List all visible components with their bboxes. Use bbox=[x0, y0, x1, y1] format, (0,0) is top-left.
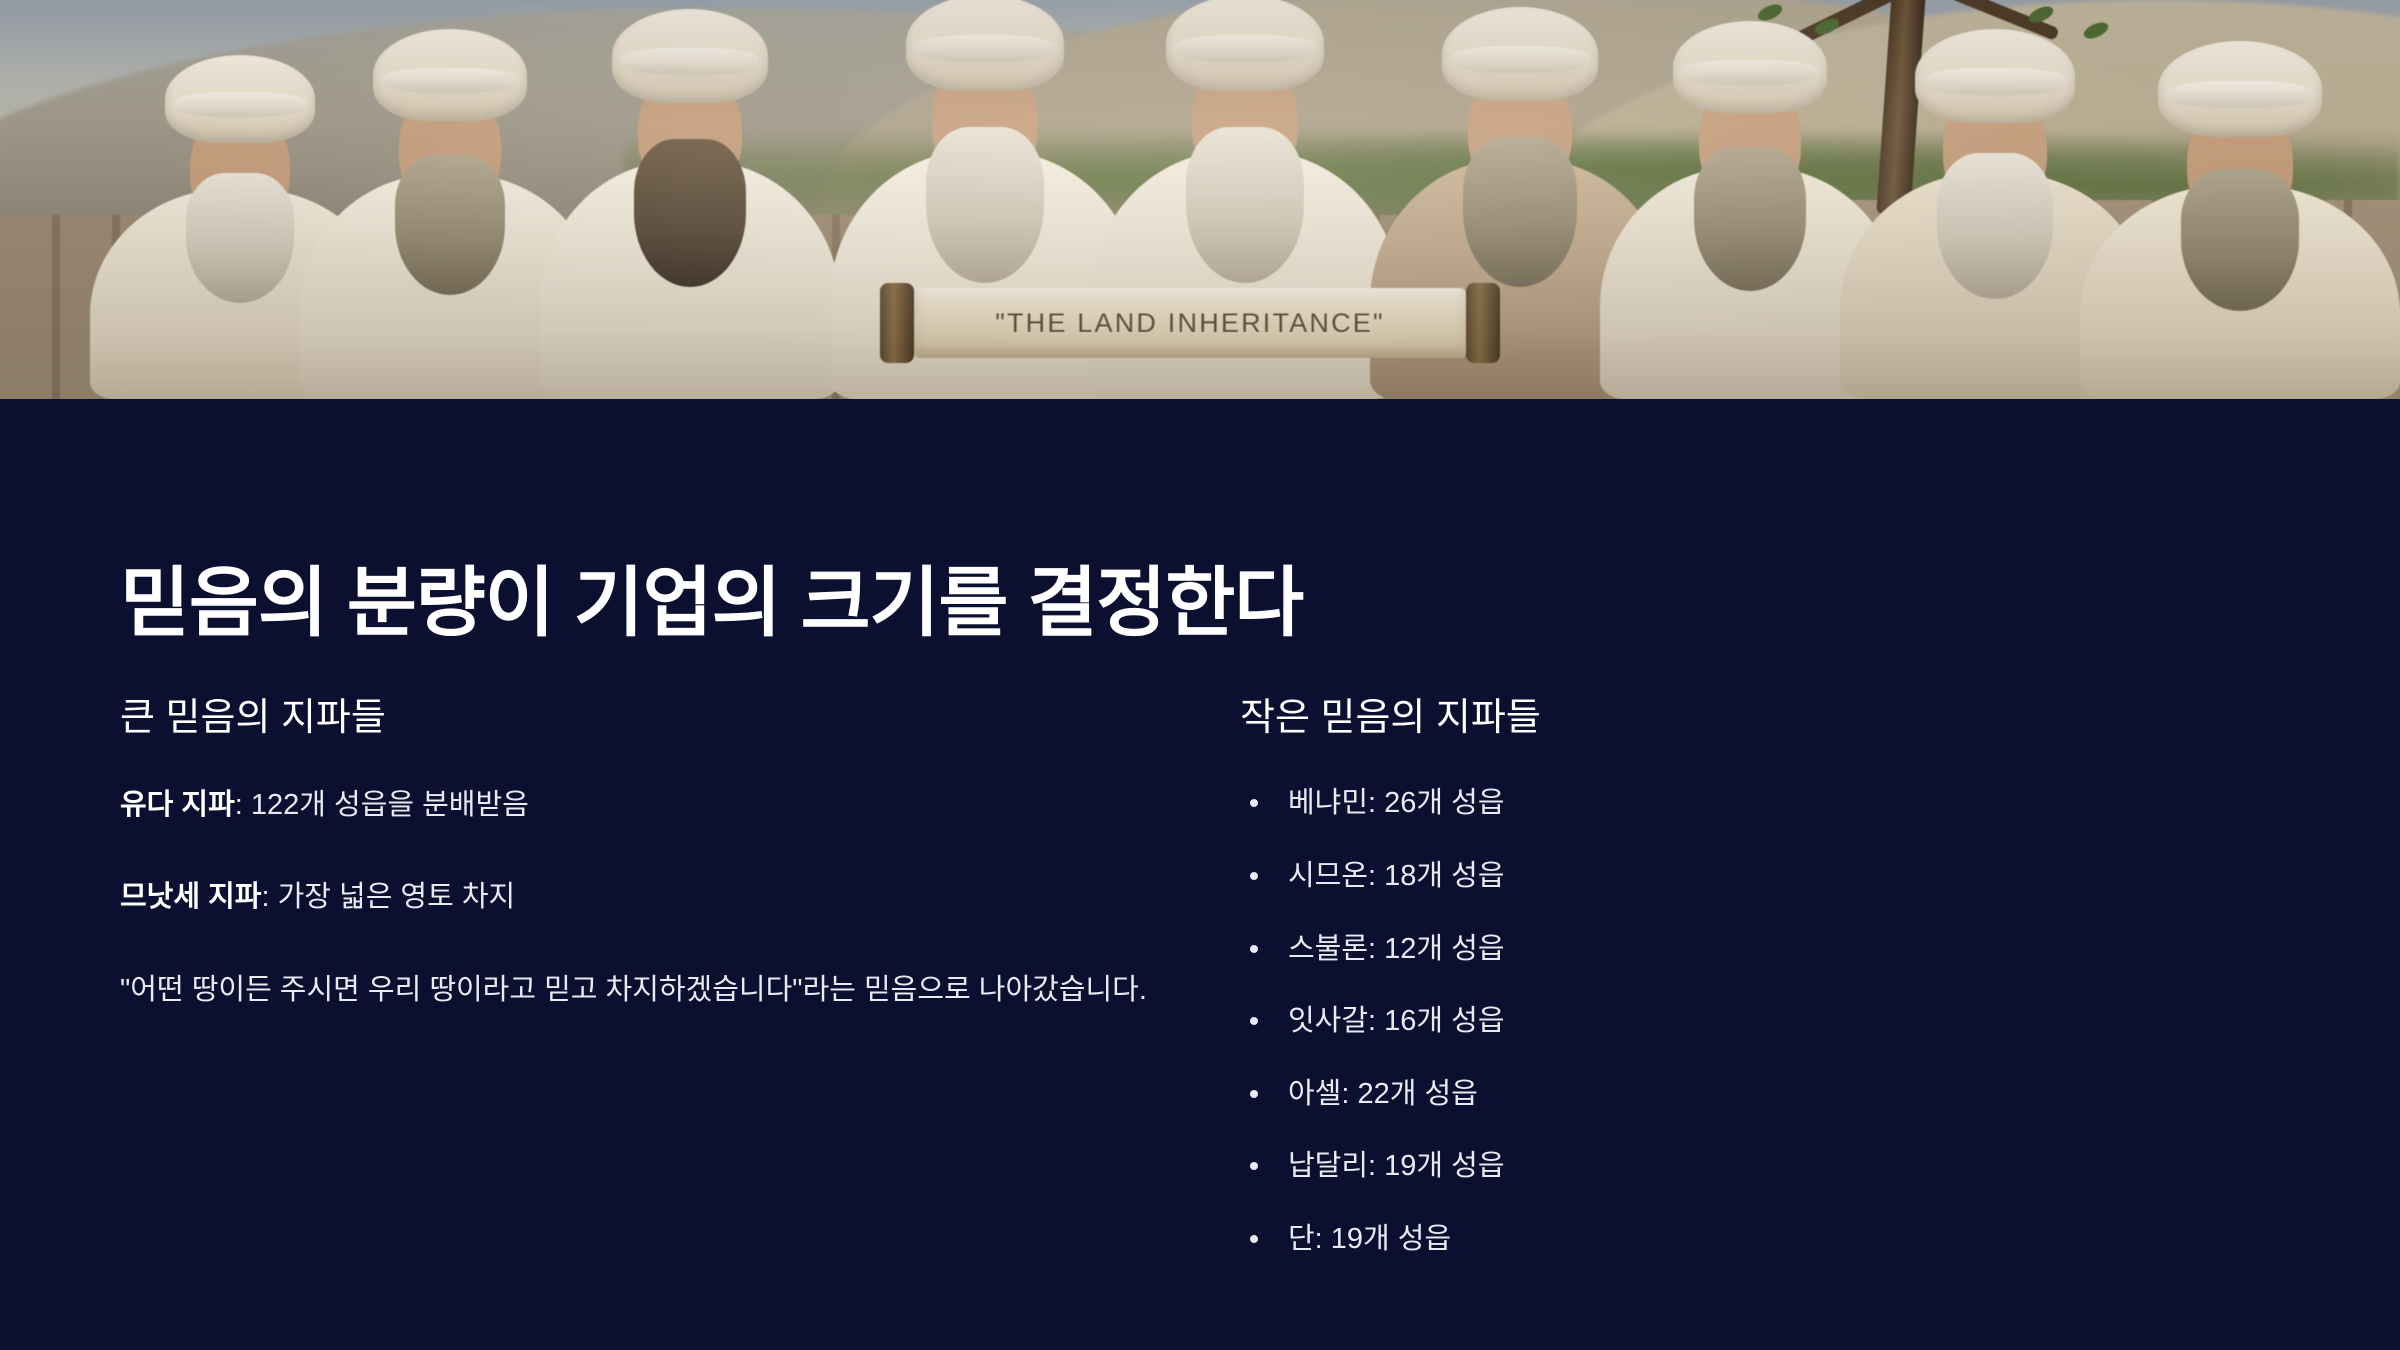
list-item-label: 스불론: 12개 성읍 bbox=[1288, 933, 1505, 965]
elder-figure bbox=[2080, 89, 2400, 399]
slide-root: "THE LAND INHERITANCE" 믿음의 분량이 기업의 크기를 결… bbox=[0, 0, 2400, 1350]
fact-value: 122개 성읍을 분배받음 bbox=[251, 789, 529, 821]
list-item-label: 아셀: 22개 성읍 bbox=[1288, 1078, 1478, 1110]
bullet-dot-icon bbox=[1250, 1090, 1258, 1098]
fact-separator: : bbox=[235, 789, 251, 821]
list-item: 잇사갈: 16개 성읍 bbox=[1240, 1001, 2240, 1042]
fact-row: 므낫세 지파: 가장 넓은 영토 차지 bbox=[120, 875, 1190, 920]
left-column-heading: 큰 믿음의 지파들 bbox=[120, 694, 1190, 743]
bullet-dot-icon bbox=[1250, 1162, 1258, 1170]
scroll-label: "THE LAND INHERITANCE" bbox=[880, 288, 1500, 358]
hero-scene: "THE LAND INHERITANCE" bbox=[0, 0, 2400, 399]
content-area: 믿음의 분량이 기업의 크기를 결정한다 큰 믿음의 지파들 유다 지파: 12… bbox=[0, 399, 2400, 1350]
bullet-dot-icon bbox=[1250, 799, 1258, 807]
fact-row: 유다 지파: 122개 성읍을 분배받음 bbox=[120, 783, 1190, 828]
bullet-dot-icon bbox=[1250, 945, 1258, 953]
left-column: 큰 믿음의 지파들 유다 지파: 122개 성읍을 분배받음 므낫세 지파: 가… bbox=[120, 694, 1190, 1014]
list-item: 아셀: 22개 성읍 bbox=[1240, 1074, 2240, 1115]
list-item: 시므온: 18개 성읍 bbox=[1240, 856, 2240, 897]
elder-figure bbox=[540, 49, 840, 399]
list-item: 스불론: 12개 성읍 bbox=[1240, 929, 2240, 970]
right-column: 작은 믿음의 지파들 베냐민: 26개 성읍 시므온: 18개 성읍 스불론: … bbox=[1240, 694, 2240, 1260]
list-item-label: 단: 19개 성읍 bbox=[1288, 1223, 1451, 1255]
quote-paragraph: "어떤 땅이든 주시면 우리 땅이라고 믿고 차지하겠습니다"라는 믿음으로 나… bbox=[120, 967, 1155, 1014]
two-column-layout: 큰 믿음의 지파들 유다 지파: 122개 성읍을 분배받음 므낫세 지파: 가… bbox=[120, 694, 2280, 1260]
scroll-prop: "THE LAND INHERITANCE" bbox=[880, 288, 1500, 358]
list-item-label: 시므온: 18개 성읍 bbox=[1288, 860, 1505, 892]
right-column-heading: 작은 믿음의 지파들 bbox=[1240, 694, 2240, 743]
fact-separator: : bbox=[261, 881, 277, 913]
fact-label: 유다 지파 bbox=[120, 789, 235, 821]
fact-label: 므낫세 지파 bbox=[120, 881, 261, 913]
list-item-label: 잇사갈: 16개 성읍 bbox=[1288, 1005, 1505, 1037]
tribe-bullet-list: 베냐민: 26개 성읍 시므온: 18개 성읍 스불론: 12개 성읍 잇사갈:… bbox=[1240, 783, 2240, 1259]
list-item: 단: 19개 성읍 bbox=[1240, 1219, 2240, 1260]
list-item: 베냐민: 26개 성읍 bbox=[1240, 783, 2240, 824]
bullet-dot-icon bbox=[1250, 1235, 1258, 1243]
fact-value: 가장 넓은 영토 차지 bbox=[278, 881, 516, 913]
page-title: 믿음의 분량이 기업의 크기를 결정한다 bbox=[120, 562, 1303, 646]
bullet-dot-icon bbox=[1250, 1017, 1258, 1025]
list-item: 납달리: 19개 성읍 bbox=[1240, 1146, 2240, 1187]
list-item-label: 베냐민: 26개 성읍 bbox=[1288, 787, 1505, 819]
hero-image: "THE LAND INHERITANCE" bbox=[0, 0, 2400, 399]
list-item-label: 납달리: 19개 성읍 bbox=[1288, 1150, 1505, 1182]
bullet-dot-icon bbox=[1250, 872, 1258, 880]
